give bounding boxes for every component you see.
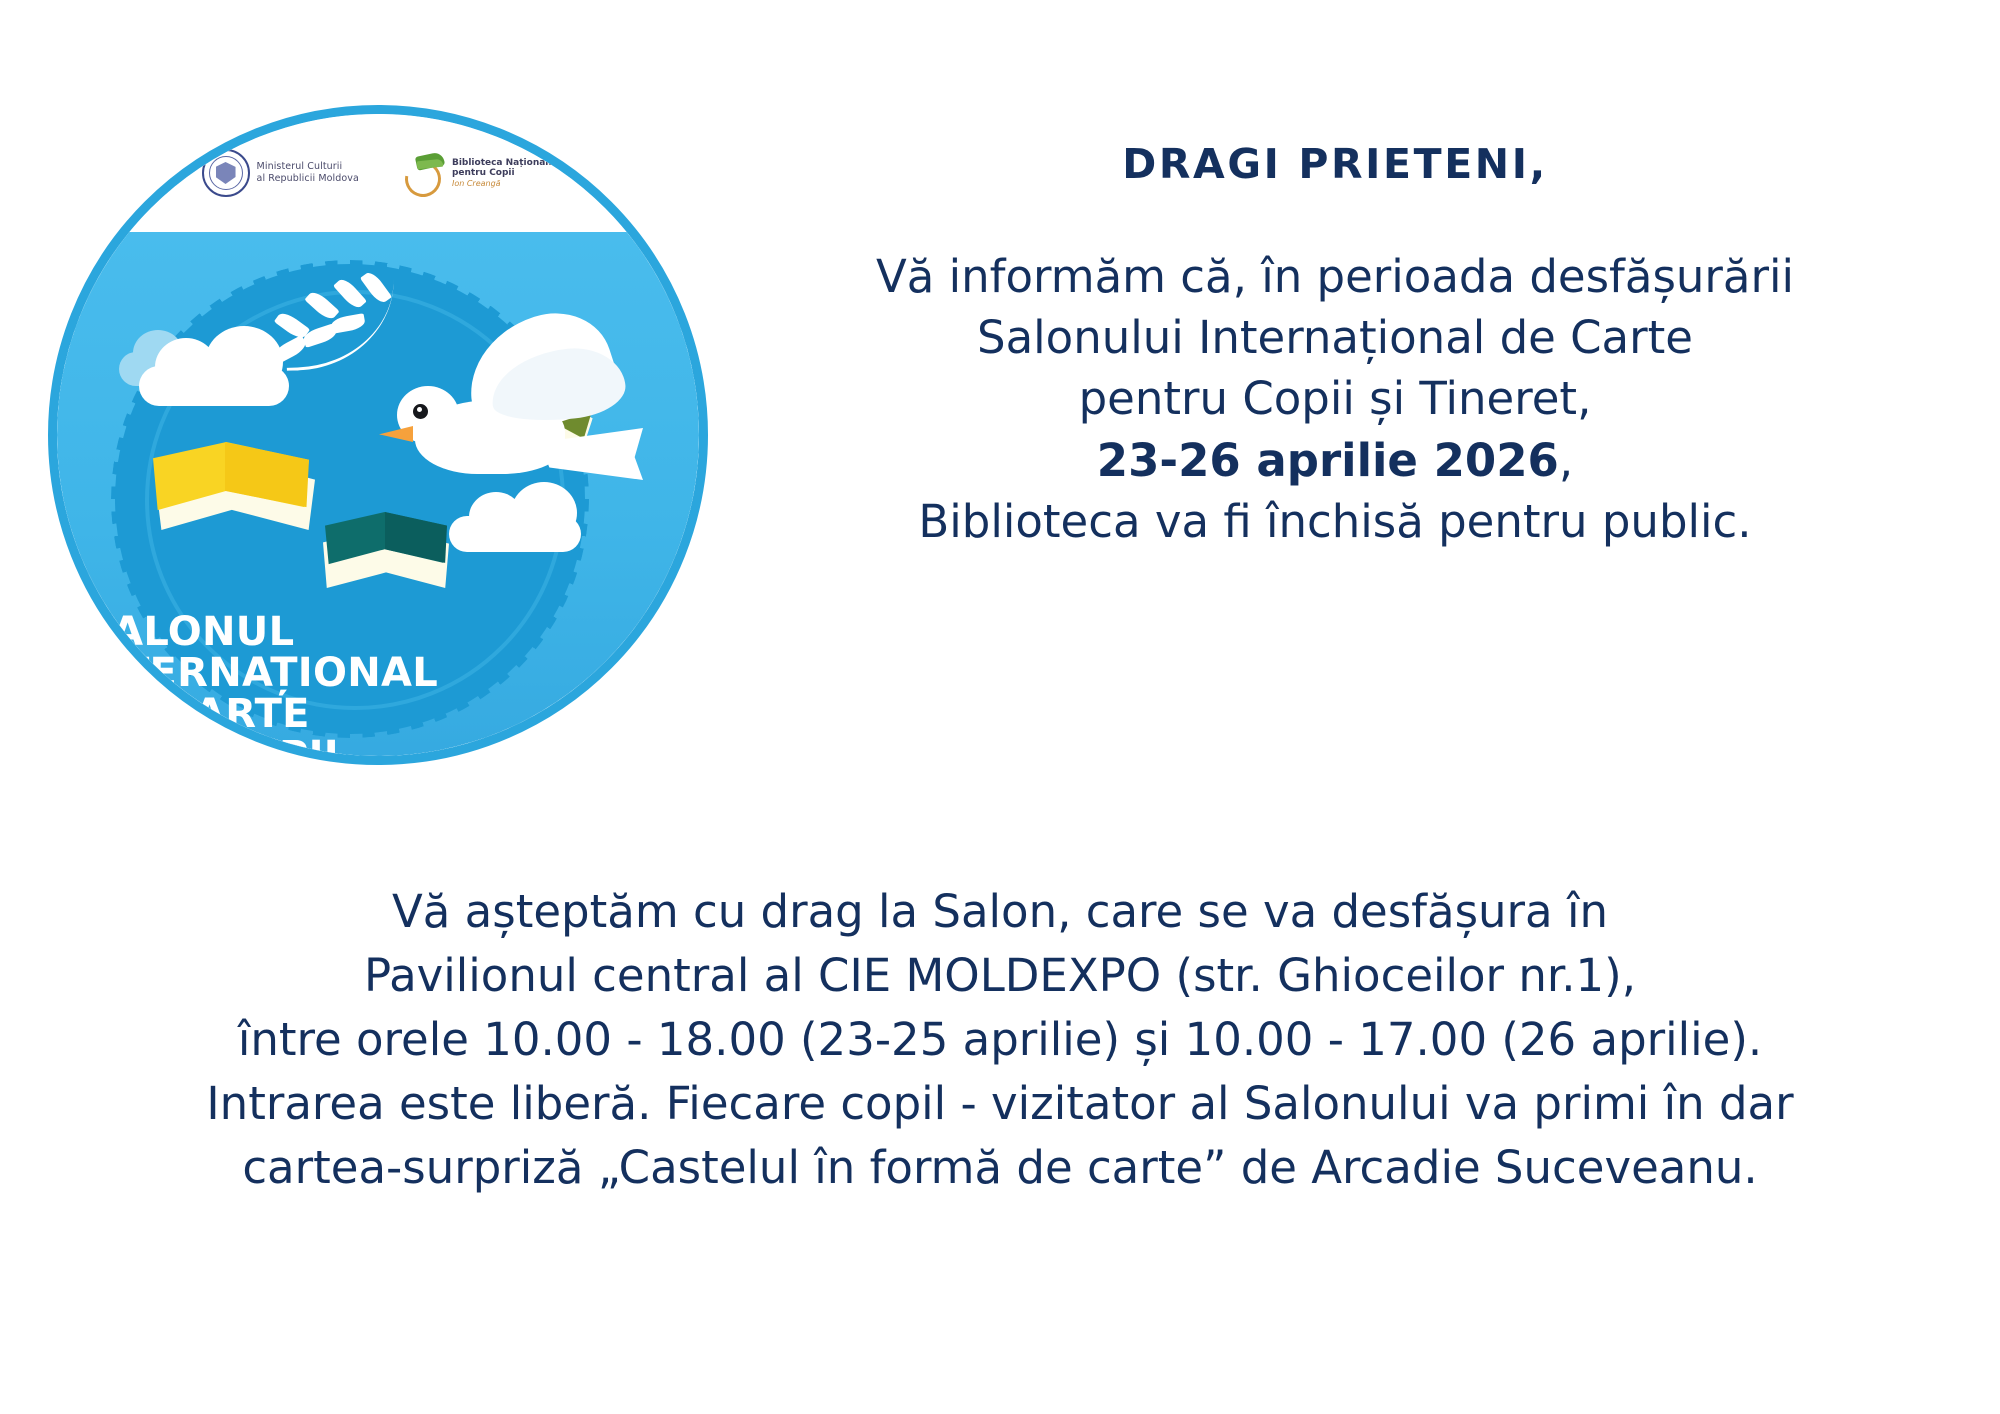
library-logo-text: Biblioteca Națională pentru Copii Ion Cr… xyxy=(452,158,555,189)
notice-date-line: 23-26 aprilie 2026, xyxy=(740,430,1930,491)
notice-closure-line: Biblioteca va fi închisă pentru public. xyxy=(740,491,1930,552)
closing-line-1: Vă așteptăm cu drag la Salon, care se va… xyxy=(60,880,1940,944)
notice-paragraph: Vă informăm că, în perioada desfășurării… xyxy=(740,246,1930,552)
closing-line-2: Pavilionul central al CIE MOLDEXPO (str.… xyxy=(60,944,1940,1008)
cloud-icon xyxy=(139,366,289,406)
emblem-artwork: Ministerul Culturii al Republicii Moldov… xyxy=(57,114,699,756)
closing-line-3: între orele 10.00 - 18.00 (23-25 aprilie… xyxy=(60,1008,1940,1072)
notice-line-2: Salonului Internațional de Carte xyxy=(740,307,1930,368)
notice-line-1: Vă informăm că, în perioada desfășurării xyxy=(740,246,1930,307)
closing-line-4: Intrarea este liberă. Fiecare copil - vi… xyxy=(60,1072,1940,1136)
emblem-caption-line-4: COPII xyxy=(215,736,553,756)
library-logo-line1: Biblioteca Națională xyxy=(452,158,555,169)
moldova-coat-of-arms-icon xyxy=(202,149,250,197)
emblem-logo-header: Ministerul Culturii al Republicii Moldov… xyxy=(57,114,699,232)
ministry-logo-line1: Ministerul Culturii xyxy=(257,161,359,173)
library-logo-line2: pentru Copii xyxy=(452,168,555,179)
ministry-logo-line2: al Republicii Moldova xyxy=(257,173,359,185)
library-book-mark-icon xyxy=(403,151,445,195)
closing-line-5: cartea-surpriză „Castelul în formă de ca… xyxy=(60,1136,1940,1200)
notice-block: DRAGI PRIETENI, Vă informăm că, în perio… xyxy=(740,140,1930,552)
closing-paragraph: Vă așteptăm cu drag la Salon, care se va… xyxy=(60,880,1940,1199)
ministry-of-culture-logo: Ministerul Culturii al Republicii Moldov… xyxy=(202,149,359,197)
national-childrens-library-logo: Biblioteca Națională pentru Copii Ion Cr… xyxy=(403,151,555,195)
yellow-open-book-icon xyxy=(153,430,317,534)
library-logo-script: Ion Creangă xyxy=(452,179,555,188)
event-date: 23-26 aprilie 2026 xyxy=(1097,434,1559,487)
emblem-caption: SALONUL INTERNAȚIONAL DE CARTE COPII xyxy=(83,612,553,756)
emblem-caption-line-3: DE CARTE xyxy=(89,694,553,735)
notice-line-3: pentru Copii și Tineret, xyxy=(740,368,1930,429)
announcement-top-region: Ministerul Culturii al Republicii Moldov… xyxy=(0,0,2000,860)
ministry-logo-text: Ministerul Culturii al Republicii Moldov… xyxy=(257,161,359,184)
notice-heading: DRAGI PRIETENI, xyxy=(740,140,1930,188)
emblem-caption-line-1: SALONUL xyxy=(83,612,553,653)
dove-icon xyxy=(357,304,637,534)
salon-emblem-logo: Ministerul Culturii al Republicii Moldov… xyxy=(48,105,708,765)
event-date-comma: , xyxy=(1559,434,1573,487)
emblem-caption-line-2: INTERNAȚIONAL xyxy=(73,653,553,694)
